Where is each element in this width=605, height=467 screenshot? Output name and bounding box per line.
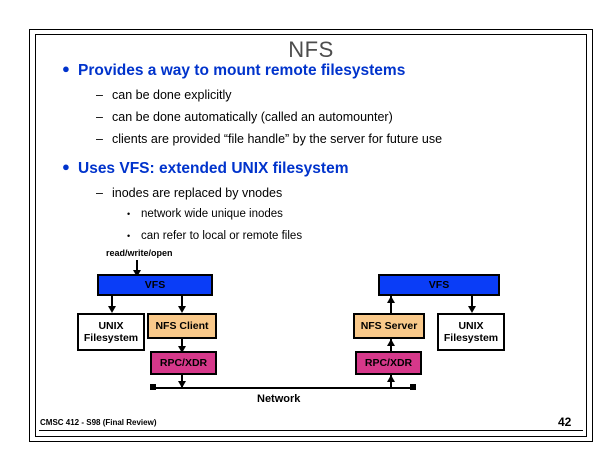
nfs-architecture-diagram: read/write/open VFS UNIX Filesystem NFS …: [35, 248, 587, 413]
bullet-text: can be done automatically (called an aut…: [112, 110, 393, 124]
client-vfs-box: VFS: [97, 274, 213, 296]
network-to-server-rpc-arrow: [387, 375, 395, 382]
bullet-text: inodes are replaced by vnodes: [112, 186, 282, 200]
bullet-level1-provides: ● Provides a way to mount remote filesys…: [62, 62, 405, 80]
bullet-marker-dash: –: [96, 88, 112, 102]
client-unixfs-label-line1: UNIX: [98, 320, 123, 332]
bullet-text: network wide unique inodes: [141, 208, 283, 220]
bullet-level2-vnodes: – inodes are replaced by vnodes: [96, 186, 282, 200]
bullet-marker-dot: •: [127, 230, 141, 244]
client-vfs-label: VFS: [145, 279, 165, 291]
network-to-server-rpc-elbow: [390, 387, 412, 389]
bullet-level1-uses-vfs: ● Uses VFS: extended UNIX filesystem: [62, 160, 349, 178]
client-unix-filesystem-box: UNIX Filesystem: [77, 313, 145, 351]
bullet-marker-dot: •: [127, 208, 141, 222]
bullet-level2-automatically: – can be done automatically (called an a…: [96, 110, 393, 124]
page-title: NFS: [35, 37, 587, 63]
server-vfs-to-unixfs-arrow: [468, 306, 476, 313]
network-label: Network: [257, 393, 300, 405]
client-rpc-xdr-box: RPC/XDR: [150, 351, 217, 375]
client-unixfs-label-line2: Filesystem: [84, 332, 138, 344]
server-rpc-xdr-label: RPC/XDR: [365, 357, 412, 369]
bullet-text: Uses VFS: extended UNIX filesystem: [78, 160, 349, 178]
nfs-server-label: NFS Server: [361, 320, 418, 332]
nfs-server-box: NFS Server: [353, 313, 425, 339]
bullet-marker-dash: –: [96, 110, 112, 124]
bullet-level3-network-wide: • network wide unique inodes: [127, 208, 283, 222]
nfs-client-box: NFS Client: [147, 313, 217, 339]
client-vfs-to-unixfs-arrow: [108, 306, 116, 313]
page-number: 42: [558, 415, 571, 429]
server-vfs-box: VFS: [378, 274, 500, 296]
bullet-level3-local-remote: • can refer to local or remote files: [127, 230, 302, 244]
server-vfs-label: VFS: [429, 279, 449, 291]
footer-course-label: CMSC 412 - S98 (Final Review): [40, 418, 156, 427]
bullet-level2-file-handle: – clients are provided “file handle” by …: [96, 132, 442, 146]
client-rpc-xdr-label: RPC/XDR: [160, 357, 207, 369]
server-unixfs-label-line2: Filesystem: [444, 332, 498, 344]
bullet-text: clients are provided “file handle” by th…: [112, 132, 442, 146]
read-write-open-label: read/write/open: [106, 248, 173, 258]
bullet-text: Provides a way to mount remote filesyste…: [78, 62, 405, 80]
bullet-level2-explicitly: – can be done explicitly: [96, 88, 232, 102]
bullet-marker-dash: –: [96, 186, 112, 200]
bullet-marker-dash: –: [96, 132, 112, 146]
footer-divider: [39, 430, 583, 431]
server-unix-filesystem-box: UNIX Filesystem: [437, 313, 505, 351]
network-tap-left: [150, 384, 156, 390]
bullet-text: can refer to local or remote files: [141, 230, 302, 242]
server-nfs-to-vfs-arrow: [387, 296, 395, 303]
server-rpc-to-nfs-arrow: [387, 339, 395, 346]
server-rpc-xdr-box: RPC/XDR: [355, 351, 422, 375]
client-vfs-to-nfs-arrow: [178, 306, 186, 313]
nfs-client-label: NFS Client: [155, 320, 208, 332]
bullet-marker-disc: ●: [62, 62, 78, 77]
network-bus-line: [150, 387, 416, 389]
server-unixfs-label-line1: UNIX: [458, 320, 483, 332]
bullet-marker-disc: ●: [62, 160, 78, 175]
bullet-text: can be done explicitly: [112, 88, 232, 102]
